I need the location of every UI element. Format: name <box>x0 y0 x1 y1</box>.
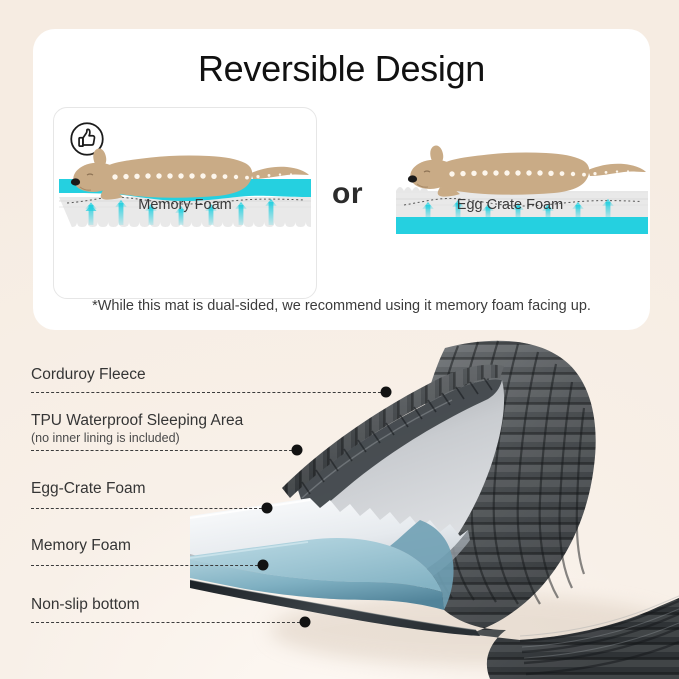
callout-anchor-dot <box>300 617 311 628</box>
callout-sublabel: (no inner lining is included) <box>31 431 243 445</box>
panel-egg-crate-up: Egg Crate Foam <box>378 109 642 227</box>
dog-illustration-right <box>408 145 646 196</box>
callout-label: Memory Foam <box>31 537 131 555</box>
callout-leader-line <box>31 508 267 509</box>
reversible-design-card: Reversible Design <box>33 29 650 330</box>
callout-leader-line <box>31 565 263 566</box>
page-title: Reversible Design <box>33 48 650 90</box>
panel-memory-foam-up: Memory Foam <box>53 109 317 227</box>
callout-label: Egg-Crate Foam <box>31 480 146 498</box>
callout-anchor-dot <box>262 503 273 514</box>
panel-label-egg-crate: Egg Crate Foam <box>378 197 642 213</box>
callout-leader-line <box>31 392 386 393</box>
callout-anchor-dot <box>381 387 392 398</box>
callout-label: Non-slip bottom <box>31 596 140 614</box>
callout-anchor-dot <box>292 445 303 456</box>
callout-4: Non-slip bottom <box>31 596 140 614</box>
callout-anchor-dot <box>258 560 269 571</box>
card-footnote: *While this mat is dual-sided, we recomm… <box>33 298 650 314</box>
callout-leader-line <box>31 450 297 451</box>
callout-label: TPU Waterproof Sleeping Area <box>31 412 243 430</box>
panel-label-memory-foam: Memory Foam <box>53 197 317 213</box>
divider-or: or <box>317 177 378 211</box>
callout-0: Corduroy Fleece <box>31 366 146 384</box>
callout-leader-line <box>31 622 305 623</box>
callout-2: Egg-Crate Foam <box>31 480 146 498</box>
callout-label: Corduroy Fleece <box>31 366 146 384</box>
callout-3: Memory Foam <box>31 537 131 555</box>
callout-1: TPU Waterproof Sleeping Area(no inner li… <box>31 412 243 445</box>
infographic-root: Reversible Design <box>0 0 679 679</box>
